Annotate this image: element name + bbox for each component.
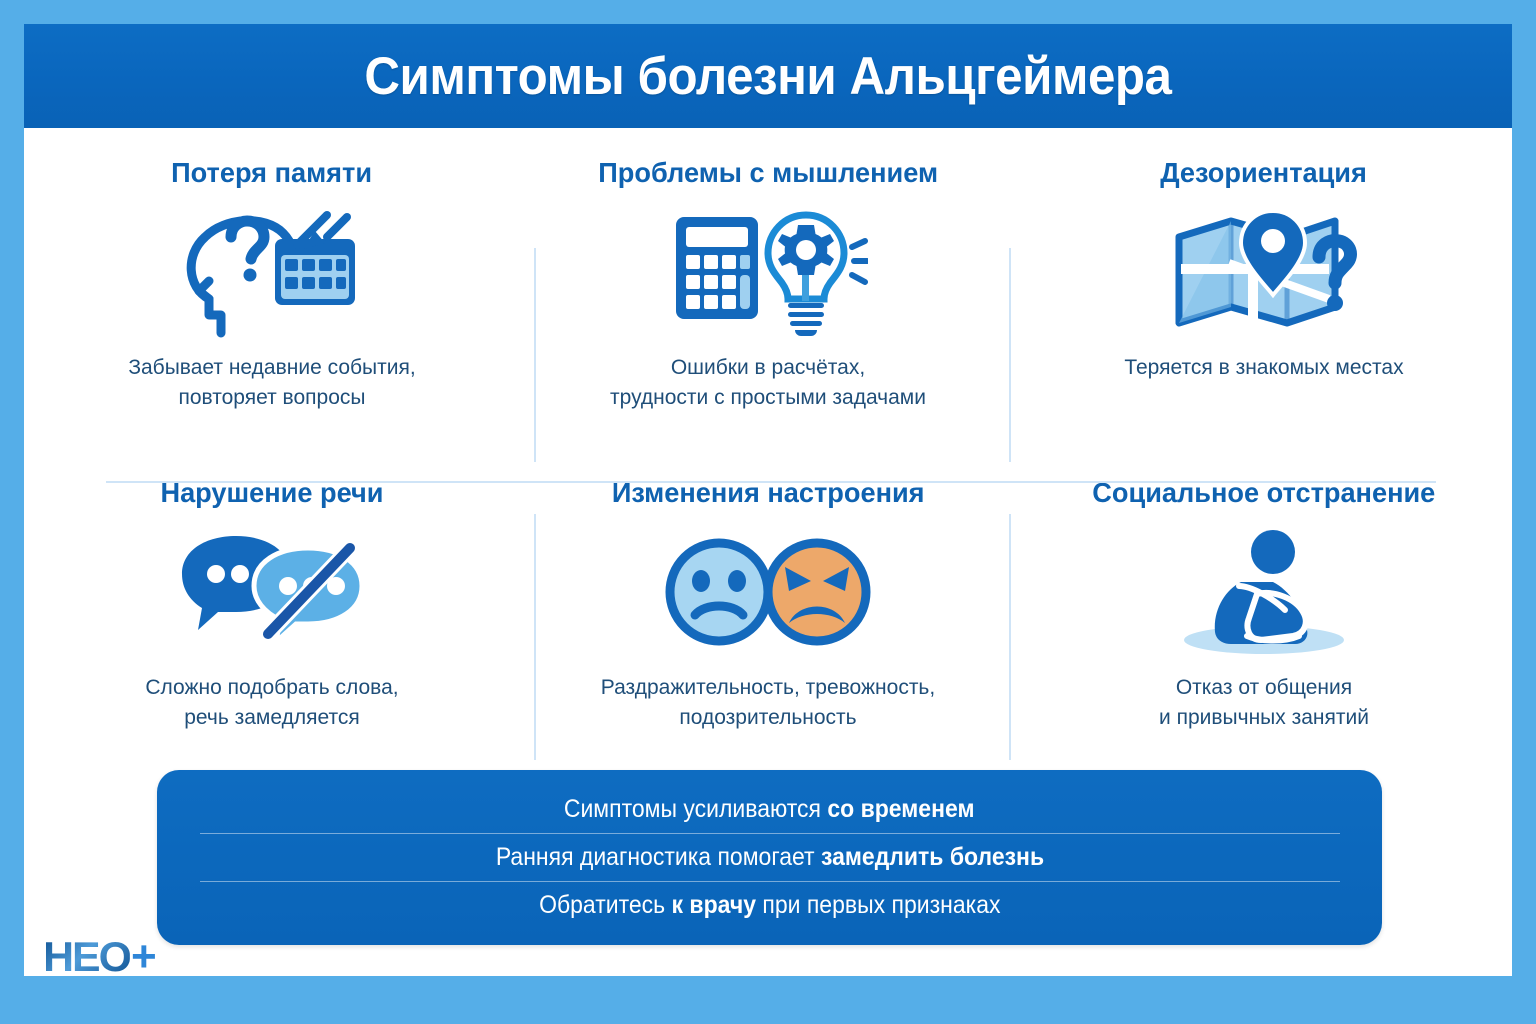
divider-vertical-row2-left — [534, 514, 536, 760]
header-band: Симптомы болезни Альцгеймера — [24, 24, 1512, 128]
card-description: Раздражительность, тревожность,подозрите… — [601, 673, 935, 734]
footer-line-3-plain: Обратитесь — [539, 891, 671, 919]
divider-vertical-row1-right — [1009, 248, 1011, 462]
footer-line-2-bold: замедлить болезнь — [821, 843, 1044, 871]
footer-line-1: Симптомы усиливаются со временем — [564, 786, 975, 833]
footer-line-1-bold: со временем — [828, 795, 975, 823]
page-title: Симптомы болезни Альцгеймера — [364, 46, 1171, 107]
speech-bubbles-crossed-icon — [172, 523, 372, 663]
footer-line-3-bold: к врачу — [671, 891, 755, 919]
divider-vertical-row1-left — [534, 248, 536, 462]
card-description: Забывает недавние события,повторяет вопр… — [128, 353, 415, 414]
card-thinking-problems[interactable]: Проблемы с мышлением — [520, 128, 1016, 448]
divider-vertical-row2-right — [1009, 514, 1011, 760]
footer-line-1-plain: Симптомы усиливаются — [564, 795, 828, 823]
calculator-lightbulb-gear-icon — [668, 203, 868, 343]
footer-line-3: Обратитесь к врачу при первых признаках — [539, 882, 1000, 929]
poster: Симптомы болезни Альцгеймера Потеря памя… — [24, 24, 1512, 976]
card-description: Теряется в знакомых местах — [1124, 353, 1403, 383]
map-pin-question-icon — [1169, 203, 1359, 343]
card-speech-impairment[interactable]: Нарушение речи — [24, 448, 520, 768]
card-description: Отказ от общенияи привычных занятий — [1159, 673, 1369, 734]
footer-line-2-plain: Ранняя диагностика помогает — [495, 843, 820, 871]
brand-logo: НЕО+ — [44, 932, 155, 976]
logo-plus-icon: + — [131, 932, 155, 976]
card-title: Проблемы с мышлением — [598, 158, 938, 189]
sad-angry-faces-icon — [663, 523, 873, 663]
logo-text: НЕО — [43, 933, 130, 976]
footer-panel: Симптомы усиливаются со временем Ранняя … — [157, 770, 1382, 945]
sitting-person-icon — [1169, 523, 1359, 663]
card-mood-changes[interactable]: Изменения настроения Раздражительность, … — [520, 448, 1016, 768]
card-memory-loss[interactable]: Потеря памяти — [24, 128, 520, 448]
footer-line-2: Ранняя диагностика помогает замедлить бо… — [495, 834, 1043, 881]
card-title: Дезориентация — [1161, 158, 1368, 189]
card-description: Ошибки в расчётах,трудности с простыми з… — [610, 353, 926, 414]
card-description: Сложно подобрать слова,речь замедляется — [145, 673, 398, 734]
footer-line-3-tail: при первых признаках — [756, 891, 1001, 919]
divider-horizontal — [106, 481, 1436, 483]
head-question-calendar-icon — [177, 203, 367, 343]
card-social-withdrawal[interactable]: Социальное отстранение Отказ от общенияи… — [1016, 448, 1512, 768]
symptom-grid: Потеря памяти — [24, 128, 1512, 768]
card-disorientation[interactable]: Дезориентация Теряется в знакомых местах — [1016, 128, 1512, 448]
card-title: Потеря памяти — [172, 158, 373, 189]
